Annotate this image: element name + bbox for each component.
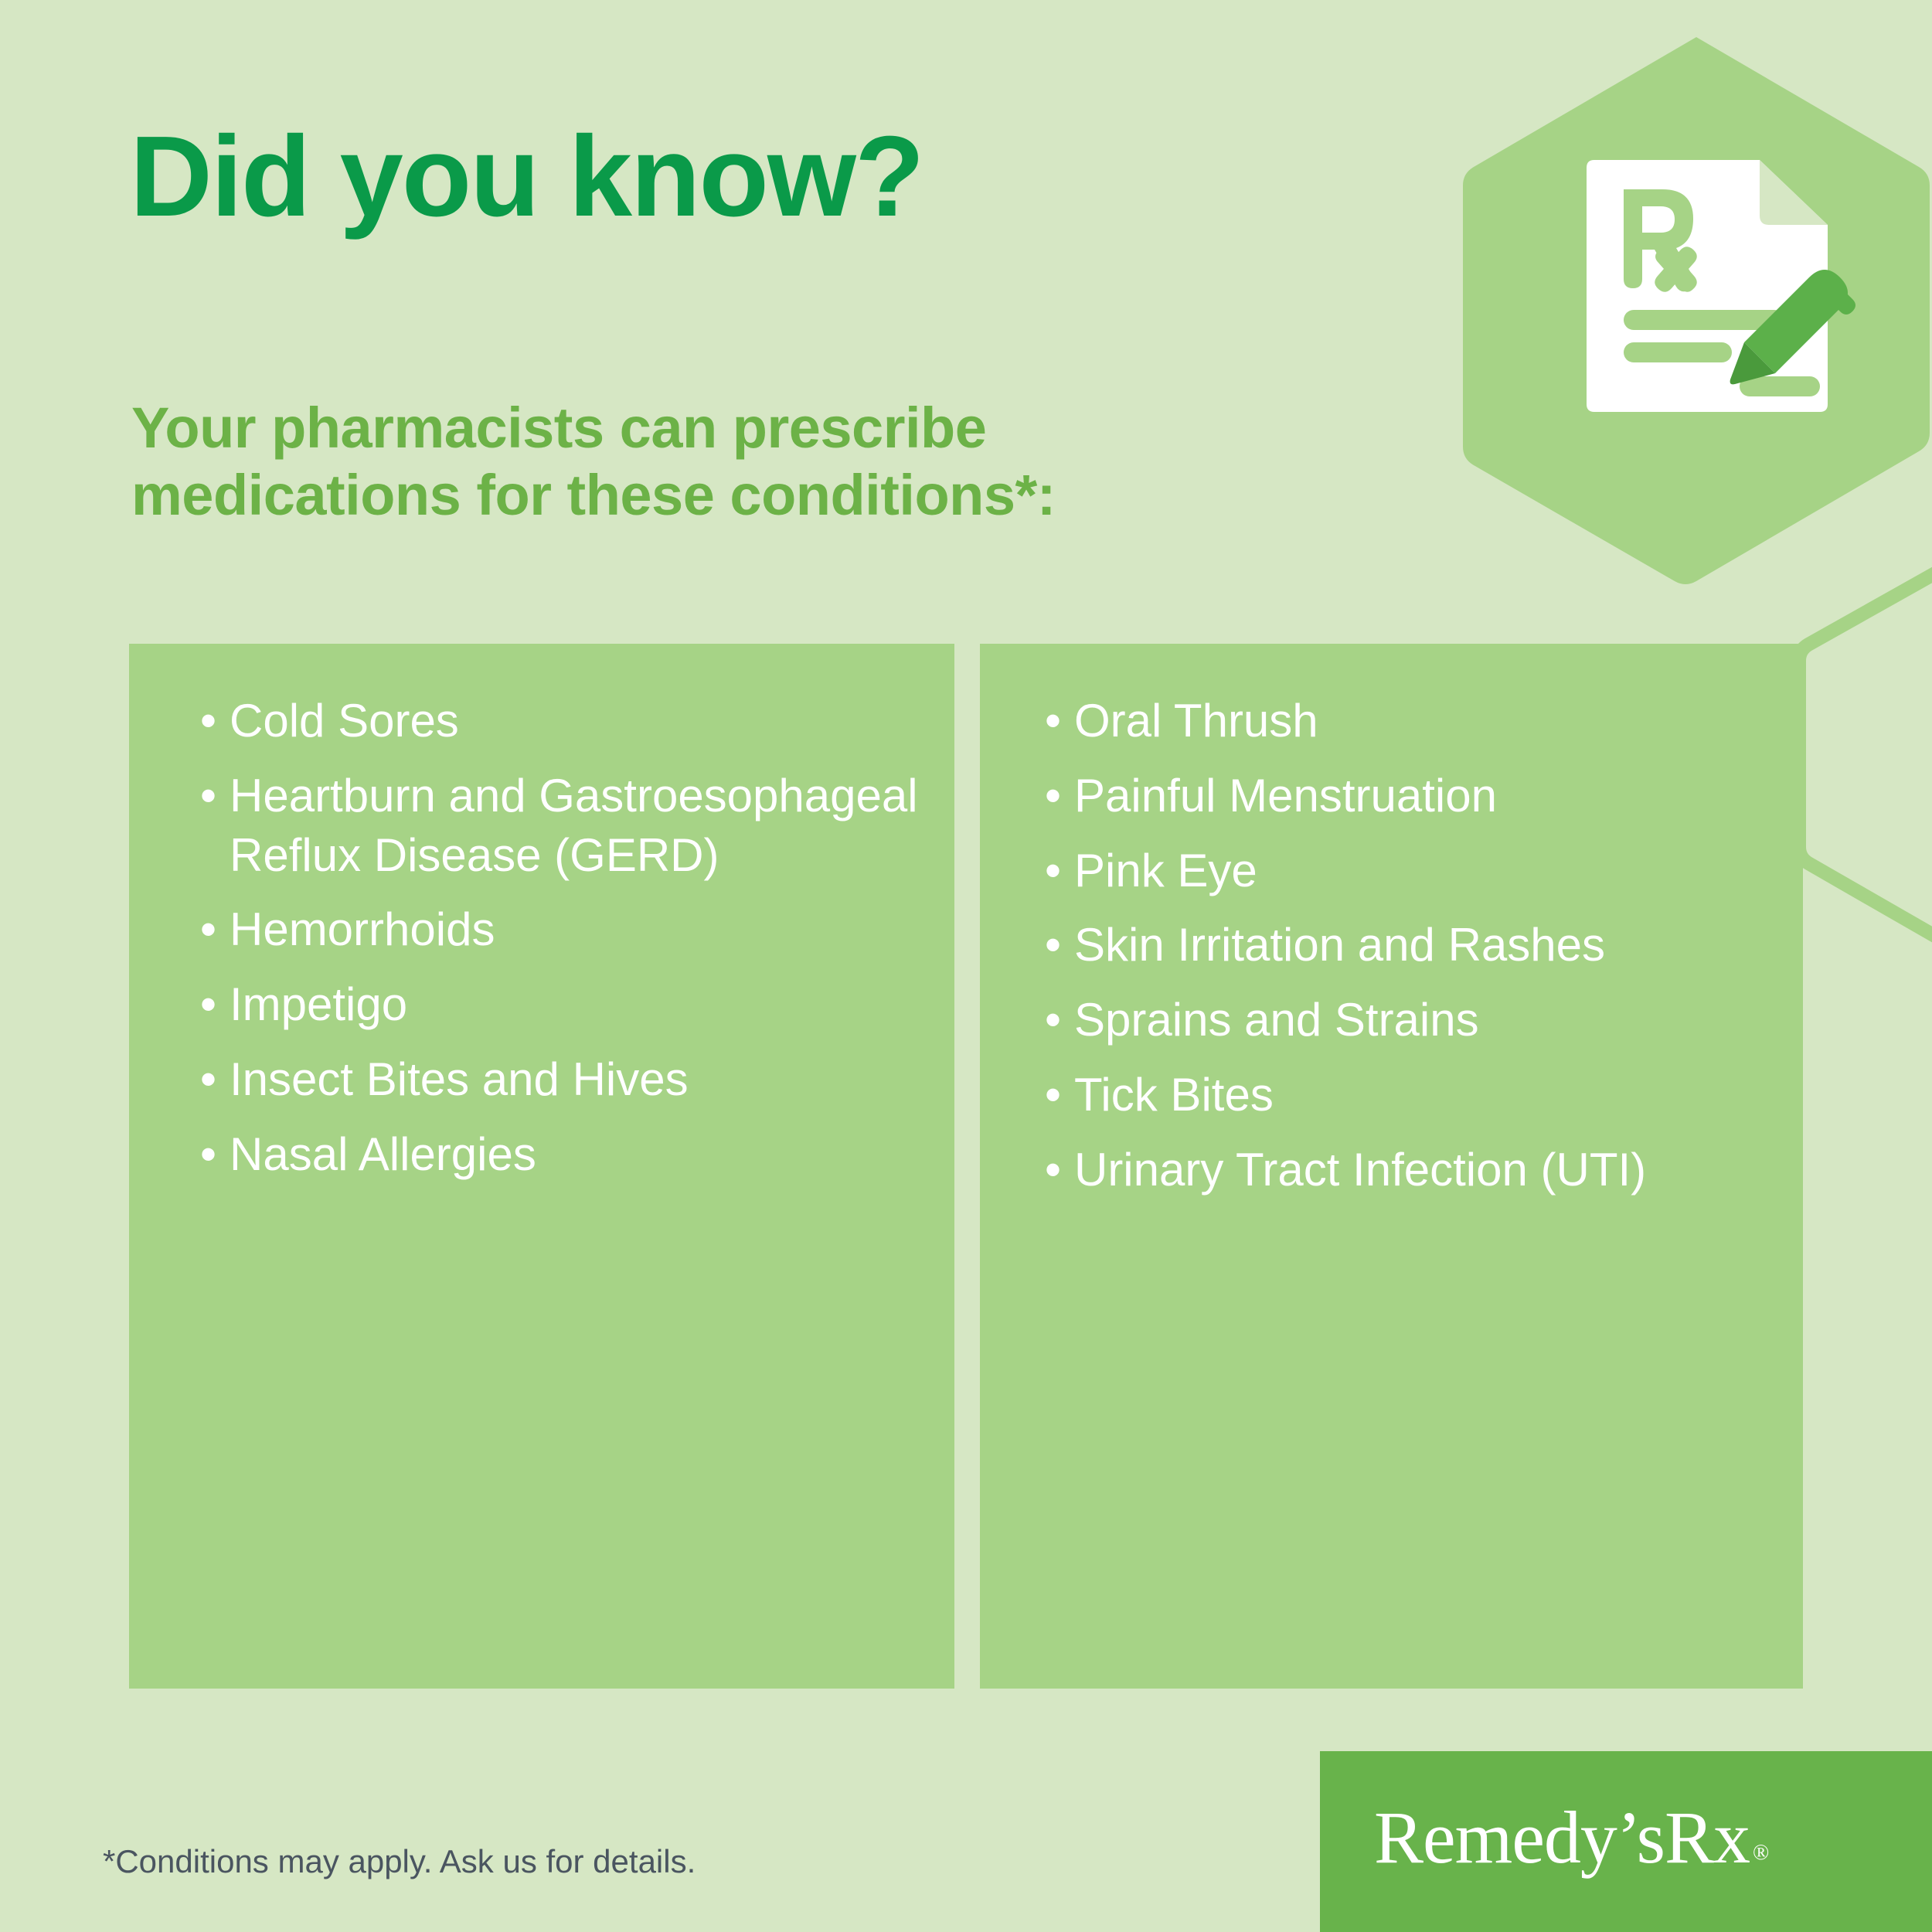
- bullet-icon: •: [200, 767, 216, 826]
- list-item: • Skin Irritation and Rashes: [1011, 916, 1772, 975]
- page-subtitle-line-1: Your pharmacists can prescribe: [131, 394, 1056, 461]
- list-item: • Pink Eye: [1011, 842, 1772, 901]
- conditions-panel-right: • Oral Thrush • Painful Menstruation • P…: [980, 644, 1803, 1689]
- page-subtitle-line-2: medications for these conditions*:: [131, 461, 1056, 529]
- list-item: • Hemorrhoids: [160, 900, 923, 960]
- bullet-icon: •: [1045, 767, 1061, 826]
- brand-footer-band: Remedy’sRx®: [1320, 1751, 1932, 1932]
- bullet-icon: •: [1045, 916, 1061, 975]
- list-item: • Cold Sores: [160, 692, 923, 751]
- list-item-label: Sprains and Strains: [1074, 994, 1479, 1046]
- list-item-label: Impetigo: [230, 978, 407, 1030]
- bullet-icon: •: [200, 900, 216, 960]
- bullet-icon: •: [200, 692, 216, 751]
- doc-line-2-icon: [1624, 342, 1732, 362]
- poster-canvas: Did you know? Your pharmacists can presc…: [0, 0, 1932, 1932]
- list-item: • Impetigo: [160, 975, 923, 1035]
- list-item: • Urinary Tract Infection (UTI): [1011, 1141, 1772, 1200]
- conditions-list-right: • Oral Thrush • Painful Menstruation • P…: [1011, 692, 1772, 1200]
- list-item-label: Heartburn and Gastroesophageal Reflux Di…: [230, 770, 918, 881]
- bullet-icon: •: [1045, 1066, 1061, 1125]
- list-item: • Tick Bites: [1011, 1066, 1772, 1125]
- list-item-label: Painful Menstruation: [1074, 770, 1497, 821]
- brand-logo-wordmark: Remedy’sRx: [1374, 1796, 1750, 1879]
- bullet-icon: •: [1045, 842, 1061, 901]
- bullet-icon: •: [200, 1125, 216, 1185]
- list-item-label: Pink Eye: [1074, 845, 1257, 896]
- bullet-icon: •: [200, 1050, 216, 1110]
- bullet-icon: •: [1045, 991, 1061, 1050]
- list-item: • Oral Thrush: [1011, 692, 1772, 751]
- page-title: Did you know?: [130, 120, 923, 234]
- registered-trademark-icon: ®: [1753, 1841, 1768, 1865]
- page-subtitle: Your pharmacists can prescribe medicatio…: [131, 394, 1056, 529]
- brand-logo: Remedy’sRx®: [1374, 1794, 1765, 1880]
- list-item-label: Nasal Allergies: [230, 1128, 536, 1180]
- bullet-icon: •: [200, 975, 216, 1035]
- list-item-label: Urinary Tract Infection (UTI): [1074, 1144, 1646, 1196]
- list-item-label: Tick Bites: [1074, 1069, 1274, 1121]
- rx-letter-icon: [1624, 189, 1697, 292]
- prescription-document-icon: [1580, 158, 1859, 413]
- list-item: • Heartburn and Gastroesophageal Reflux …: [160, 767, 923, 886]
- bullet-icon: •: [1045, 1141, 1061, 1200]
- list-item: • Insect Bites and Hives: [160, 1050, 923, 1110]
- hexagon-outline-icon: [1793, 541, 1932, 958]
- bullet-icon: •: [1045, 692, 1061, 751]
- conditions-panel-left: • Cold Sores • Heartburn and Gastroesoph…: [129, 644, 954, 1689]
- list-item-label: Hemorrhoids: [230, 903, 495, 955]
- list-item-label: Skin Irritation and Rashes: [1074, 919, 1605, 971]
- conditions-list-left: • Cold Sores • Heartburn and Gastroesoph…: [160, 692, 923, 1185]
- list-item-label: Oral Thrush: [1074, 695, 1318, 747]
- footnote-text: *Conditions may apply. Ask us for detail…: [103, 1843, 696, 1880]
- list-item: • Sprains and Strains: [1011, 991, 1772, 1050]
- list-item-label: Cold Sores: [230, 695, 459, 747]
- list-item-label: Insect Bites and Hives: [230, 1053, 689, 1105]
- list-item: • Nasal Allergies: [160, 1125, 923, 1185]
- list-item: • Painful Menstruation: [1011, 767, 1772, 826]
